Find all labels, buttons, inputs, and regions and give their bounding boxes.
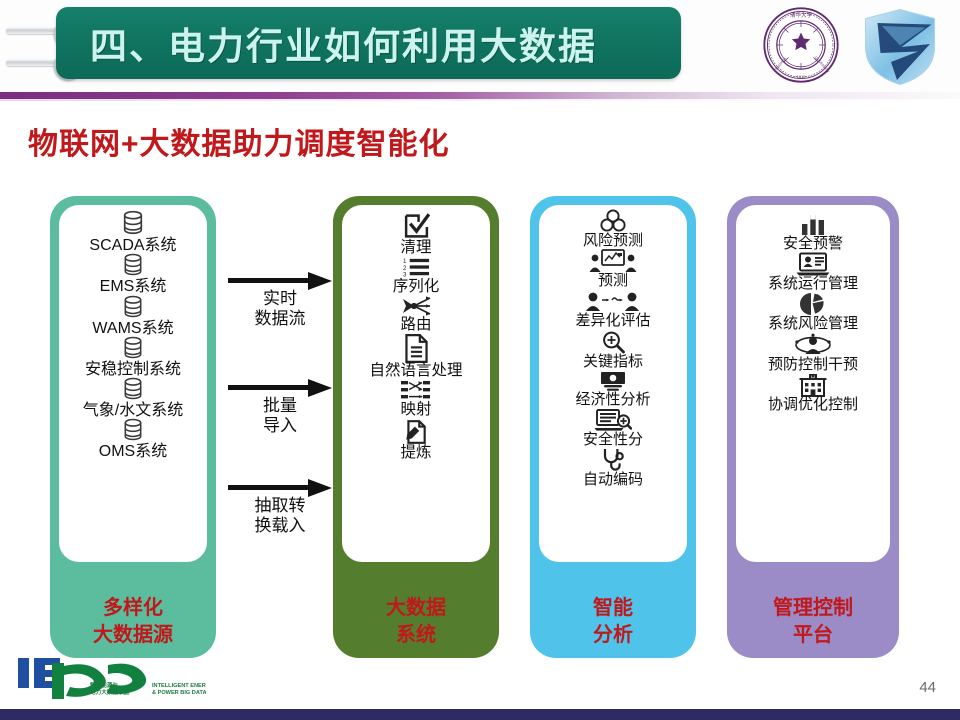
list-item[interactable]: 安全预警 (736, 212, 890, 252)
arrow-label-line1: 批量 (228, 396, 332, 416)
list-item[interactable]: 自动编码 (539, 448, 687, 488)
svg-text:INTELLIGENT ENERGY: INTELLIGENT ENERGY (152, 683, 206, 689)
arrow-label-line2: 导入 (228, 416, 332, 436)
bar-chart-icon (801, 212, 825, 236)
list-item[interactable]: EMS系统 (59, 253, 207, 295)
list-item-label: 清理 (400, 240, 431, 257)
slide-header: 四、电力行业如何利用大数据 清华大学 (0, 0, 960, 95)
magnifier-plus-icon (601, 330, 626, 354)
list-item[interactable]: 经济性分析 (539, 370, 687, 408)
column-intelligent-analysis-card: 风险预测 预测 (535, 201, 691, 566)
list-item-label: SCADA系统 (89, 237, 176, 254)
column-management-control: 安全预警 系统运行管理 (727, 196, 899, 658)
list-item-label: OMS系统 (99, 443, 167, 460)
column-sources: SCADA系统 EMS系统 WAMS系统 (50, 196, 216, 658)
list-item-label: 关键指标 (583, 354, 643, 370)
stethoscope-icon (600, 448, 626, 472)
list-item-label: 映射 (400, 402, 431, 419)
building-icon: H (799, 373, 827, 397)
page-title: 四、电力行业如何利用大数据 (90, 16, 597, 70)
comparison-people-icon (585, 289, 641, 313)
column-caption-line2: 大数据源 (50, 622, 216, 648)
svg-text:~1911~: ~1911~ (795, 74, 809, 79)
title-bar: 四、电力行业如何利用大数据 (56, 7, 681, 79)
column-intelligent-analysis: 风险预测 预测 (530, 196, 696, 658)
list-item-label: 气象/水文系统 (83, 402, 183, 419)
list-item[interactable]: 自然语言处理 (342, 334, 490, 380)
arrow-label: 抽取转 换载入 (228, 496, 332, 536)
list-item-label: 安稳控制系统 (85, 361, 181, 378)
list-item[interactable]: 预防控制干预 (736, 333, 890, 373)
arrow-label-line2: 数据流 (228, 309, 332, 329)
extract-document-icon (404, 419, 428, 445)
arrow-label: 批量 导入 (228, 396, 332, 436)
list-item[interactable]: H 协调优化控制 (736, 373, 890, 413)
svg-text:& POWER BIG DATA: & POWER BIG DATA (152, 690, 206, 696)
tsinghua-university-seal-icon: 清华大学 ~1911~ TSINGHUA UNIVERSITY (762, 6, 840, 84)
list-item[interactable]: 气象/水文系统 (59, 377, 207, 419)
svg-text:电力大数据联盟: 电力大数据联盟 (90, 688, 130, 696)
column-caption-line2: 平台 (727, 622, 899, 648)
list-item-label: 系统运行管理 (768, 276, 858, 292)
mapping-icon (401, 380, 431, 402)
forecast-meeting-icon (589, 249, 637, 273)
database-icon (121, 418, 145, 443)
list-item-label: 路由 (400, 317, 431, 334)
column-caption: 大数据 系统 (333, 595, 499, 648)
checklist-icon (403, 212, 430, 240)
column-caption-line1: 多样化 (50, 595, 216, 621)
list-item-label: 预测 (598, 273, 628, 289)
list-item-label: WAMS系统 (92, 320, 173, 337)
list-item[interactable]: 安稳控制系统 (59, 336, 207, 378)
column-caption: 智能 分析 (530, 595, 696, 648)
column-caption-line1: 大数据 (333, 595, 499, 621)
page-number: 44 (919, 679, 936, 696)
column-caption-line1: 管理控制 (727, 595, 899, 621)
column-sources-card: SCADA系统 EMS系统 WAMS系统 (55, 201, 211, 566)
list-item-label: 自然语言处理 (369, 363, 462, 380)
list-item-label: 自动编码 (583, 472, 643, 488)
column-bigdata-system: 清理 123 序列化 (333, 196, 499, 658)
list-item[interactable]: SCADA系统 (59, 210, 207, 254)
list-item-label: 安全性分 (583, 432, 643, 448)
arrow-label-line1: 抽取转 (228, 496, 332, 516)
routing-icon (401, 295, 431, 317)
list-item[interactable]: 清理 (342, 212, 490, 257)
list-item-label: 系统风险管理 (768, 316, 858, 332)
list-item[interactable]: 路由 (342, 295, 490, 334)
database-icon (120, 210, 146, 237)
pie-chart-icon (798, 292, 828, 316)
laptop-search-icon (594, 408, 632, 432)
list-item-label: 风险预测 (583, 233, 643, 249)
list-item[interactable]: 安全性分 (539, 408, 687, 448)
database-icon (121, 336, 145, 361)
list-item[interactable]: 差异化评估 (539, 289, 687, 329)
database-icon (121, 253, 145, 278)
blue-shield-logo-icon (862, 8, 938, 86)
column-caption: 多样化 大数据源 (50, 595, 216, 648)
database-icon (121, 295, 145, 320)
list-item[interactable]: 123 序列化 (342, 257, 490, 296)
list-item-label: 协调优化控制 (768, 397, 858, 413)
arrow-label-line2: 换载入 (228, 516, 332, 536)
list-item-label: EMS系统 (91, 278, 175, 295)
arrow-label-line1: 实时 (228, 289, 332, 309)
list-item[interactable]: 系统风险管理 (736, 292, 890, 332)
column-caption-line2: 系统 (333, 622, 499, 648)
list-item[interactable]: 关键指标 (539, 330, 687, 370)
laptop-person-icon (796, 252, 830, 276)
list-item[interactable]: 风险预测 (539, 209, 687, 249)
column-caption-line1: 智能 (530, 595, 696, 621)
list-item[interactable]: WAMS系统 (59, 295, 207, 337)
footer-band (0, 709, 960, 720)
numbered-list-icon: 123 (403, 257, 430, 279)
list-item-label: 经济性分析 (575, 392, 650, 408)
ie-pbd-logo: 智慧能源与 电力大数据联盟 INTELLIGENT ENERGY & POWER… (16, 654, 206, 706)
column-management-control-card: 安全预警 系统运行管理 (732, 201, 894, 566)
list-item-label: 序列化 (393, 279, 440, 296)
document-lines-icon (404, 334, 429, 363)
slide-root: 四、电力行业如何利用大数据 清华大学 (0, 0, 960, 720)
header-divider-soft (0, 99, 960, 101)
list-item-label: 提炼 (400, 445, 431, 462)
svg-text:智慧能源与: 智慧能源与 (90, 681, 118, 689)
list-item[interactable]: 预测 (539, 249, 687, 289)
person-orbit-icon (794, 333, 832, 357)
money-icon (599, 370, 627, 392)
list-item[interactable]: 系统运行管理 (736, 252, 890, 292)
column-caption-line2: 分析 (530, 622, 696, 648)
column-bigdata-system-card: 清理 123 序列化 (338, 201, 494, 566)
header-divider (0, 92, 960, 99)
database-icon (121, 377, 145, 402)
list-item-label: 差异化评估 (575, 313, 650, 329)
list-item[interactable]: 提炼 (342, 419, 490, 462)
list-item[interactable]: 映射 (342, 380, 490, 419)
arrow-label: 实时 数据流 (228, 289, 332, 329)
column-caption: 管理控制 平台 (727, 595, 899, 648)
list-item-label: 安全预警 (783, 236, 843, 252)
section-title: 物联网+大数据助力调度智能化 (28, 119, 450, 163)
list-item[interactable]: OMS系统 (59, 418, 207, 460)
list-item-label: 预防控制干预 (768, 357, 858, 373)
biohazard-icon (600, 209, 626, 233)
